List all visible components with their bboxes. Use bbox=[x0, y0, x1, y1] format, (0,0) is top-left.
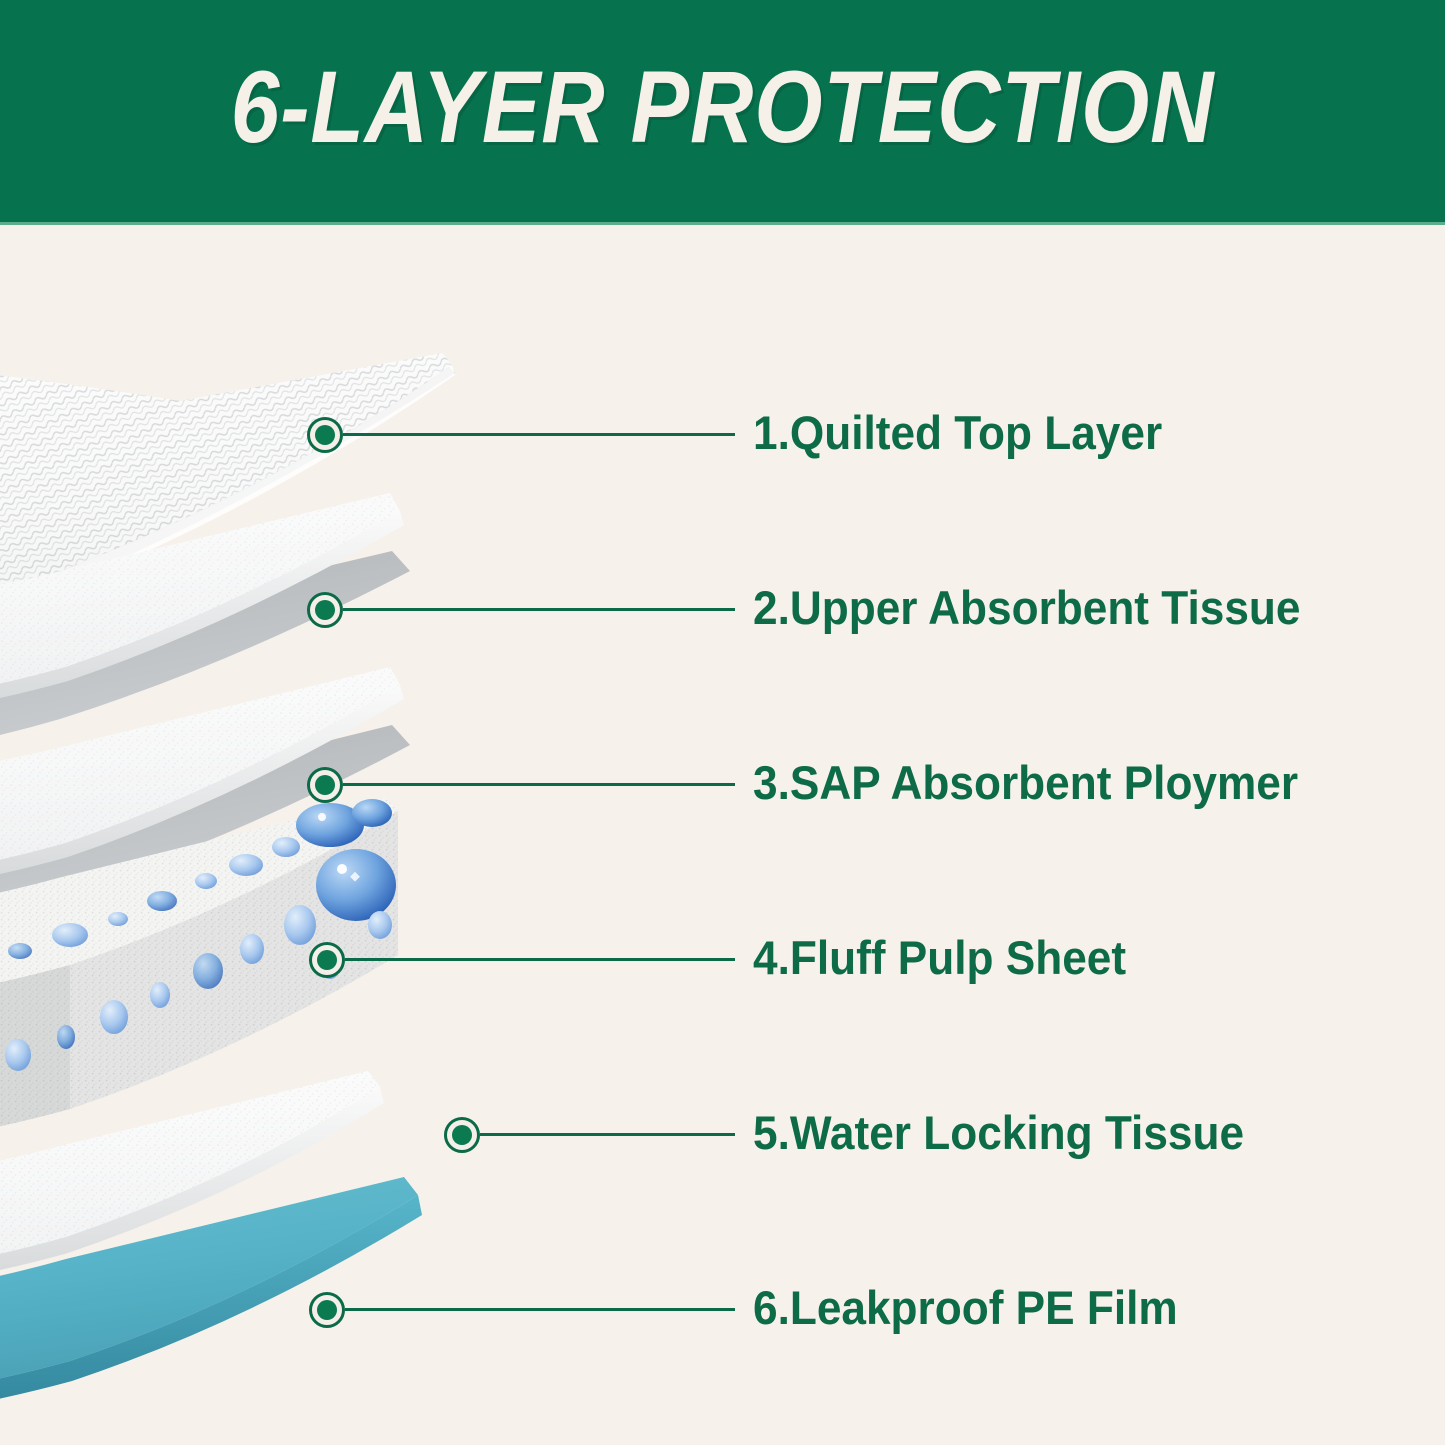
connector-dot-4[interactable] bbox=[309, 942, 345, 978]
leader-line-3 bbox=[343, 783, 735, 786]
layer-label-3: 3.SAP Absorbent Ploymer bbox=[753, 757, 1298, 809]
connector-dot-1[interactable] bbox=[307, 417, 343, 453]
header-banner: 6-LAYER PROTECTION bbox=[0, 0, 1445, 225]
page-title: 6-LAYER PROTECTION bbox=[101, 48, 1344, 166]
leader-line-4 bbox=[345, 958, 735, 961]
layer-label-5: 5.Water Locking Tissue bbox=[753, 1107, 1244, 1159]
leader-line-6 bbox=[345, 1308, 735, 1311]
connector-dot-5[interactable] bbox=[444, 1117, 480, 1153]
leader-line-5 bbox=[480, 1133, 735, 1136]
connector-dot-2[interactable] bbox=[307, 592, 343, 628]
leader-line-1 bbox=[343, 433, 735, 436]
connector-dot-3[interactable] bbox=[307, 767, 343, 803]
connector-dot-6[interactable] bbox=[309, 1292, 345, 1328]
layer-label-1: 1.Quilted Top Layer bbox=[753, 407, 1162, 459]
layer-label-4: 4.Fluff Pulp Sheet bbox=[753, 932, 1126, 984]
layer-stack-illustration bbox=[0, 225, 760, 1445]
layer-label-6: 6.Leakproof PE Film bbox=[753, 1282, 1178, 1334]
infographic-page: 6-LAYER PROTECTION bbox=[0, 0, 1445, 1445]
layer-label-2: 2.Upper Absorbent Tissue bbox=[753, 582, 1300, 634]
leader-line-2 bbox=[343, 608, 735, 611]
